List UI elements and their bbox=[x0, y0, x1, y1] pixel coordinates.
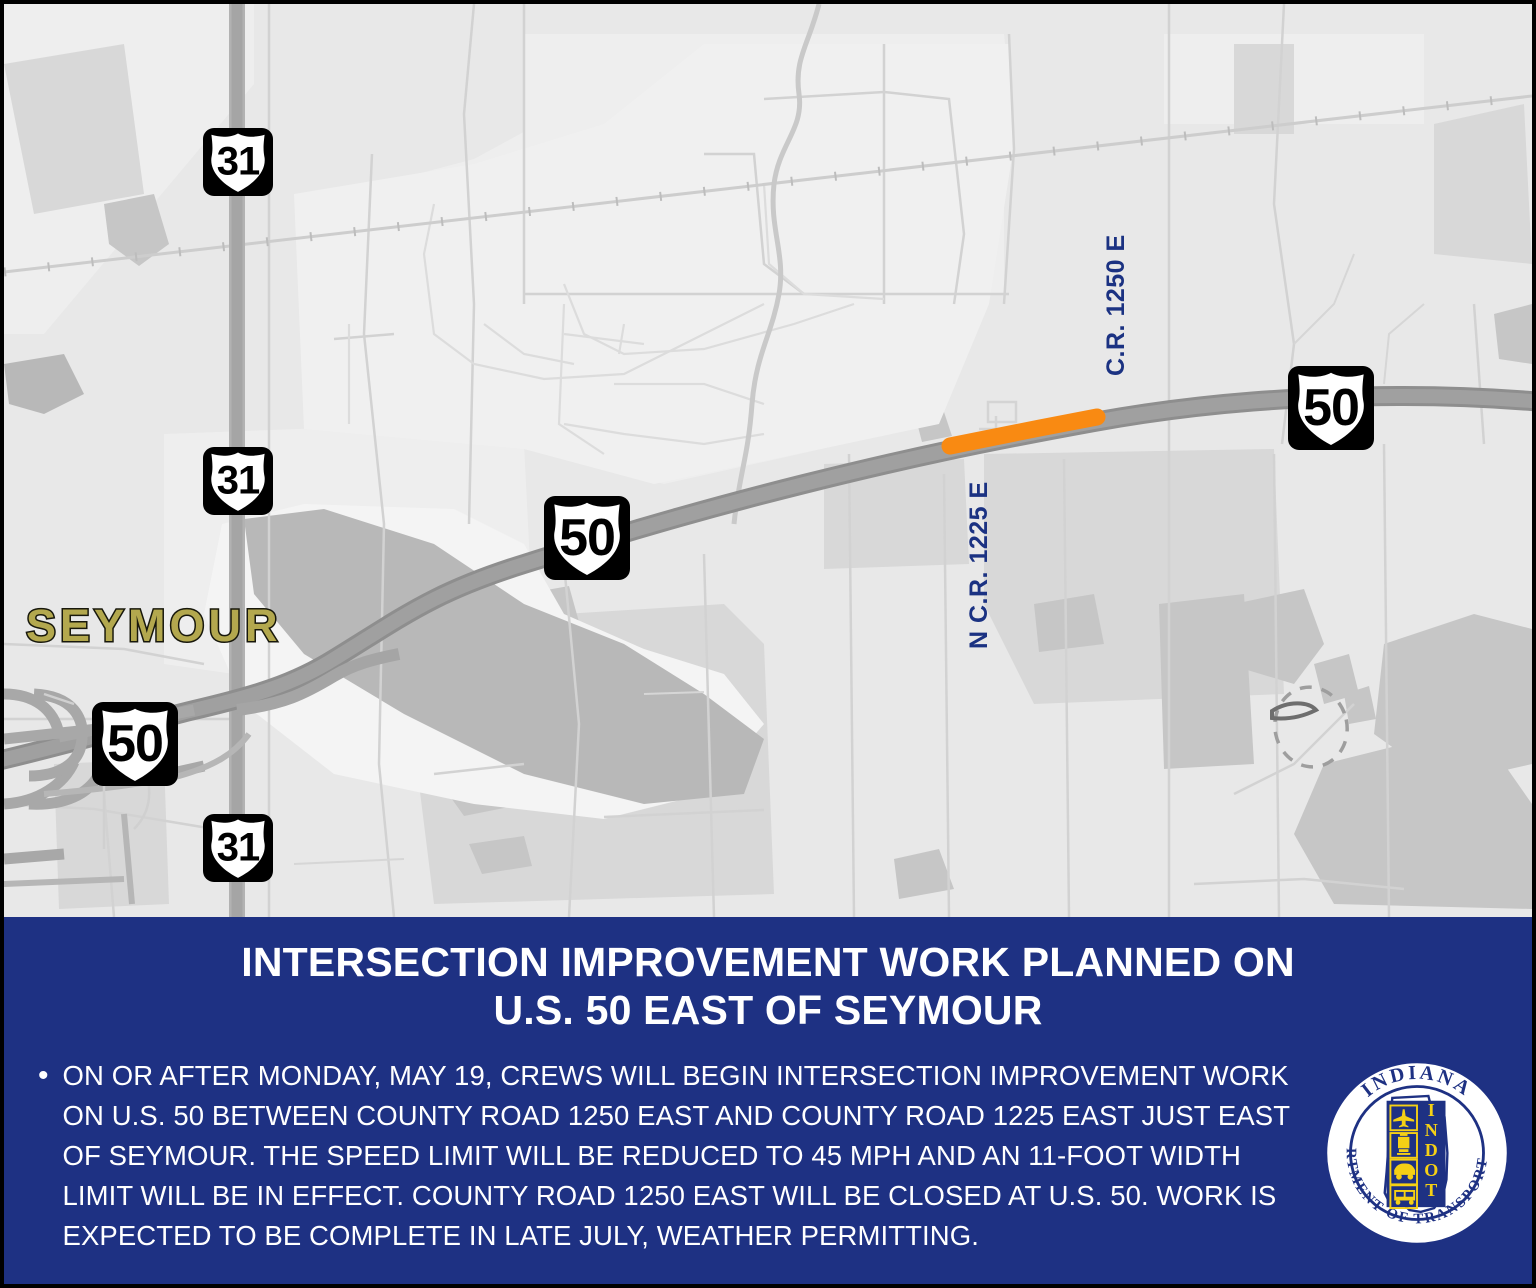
us-31-shield-number-mid: 31 bbox=[203, 459, 273, 504]
us-31-shield-number-north: 31 bbox=[203, 140, 273, 185]
us-50-shield-number-east: 50 bbox=[1288, 378, 1374, 438]
info-banner: INTERSECTION IMPROVEMENT WORK PLANNED ON… bbox=[4, 917, 1532, 1284]
us-31-shield-mid[interactable]: 31 bbox=[203, 447, 273, 515]
banner-bullet-text: ON OR AFTER MONDAY, MAY 19, CREWS WILL B… bbox=[63, 1056, 1314, 1256]
banner-title-line1: INTERSECTION IMPROVEMENT WORK PLANNED ON bbox=[74, 939, 1462, 987]
us-50-shield-west[interactable]: 50 bbox=[92, 702, 178, 786]
banner-bullet-item: • ON OR AFTER MONDAY, MAY 19, CREWS WILL… bbox=[4, 1056, 1322, 1256]
banner-body: • ON OR AFTER MONDAY, MAY 19, CREWS WILL… bbox=[4, 1034, 1532, 1256]
us-50-shield-east[interactable]: 50 bbox=[1288, 366, 1374, 450]
us-50-shield-number-west: 50 bbox=[92, 714, 178, 774]
graphic-root: SEYMOUR C.R. 1250 E N C.R. 1225 E 31 31 bbox=[0, 0, 1536, 1288]
train-icon bbox=[1397, 1134, 1410, 1155]
bullet-point-icon: • bbox=[38, 1056, 63, 1256]
us-31-shield-number-south: 31 bbox=[203, 826, 273, 871]
banner-title-line2: U.S. 50 EAST OF SEYMOUR bbox=[74, 987, 1462, 1035]
us-50-shield-center[interactable]: 50 bbox=[544, 496, 630, 580]
svg-text:N: N bbox=[1425, 1120, 1438, 1140]
n-cr-1225-east-label: N C.R. 1225 E bbox=[965, 481, 994, 649]
indot-seal-icon: INDIANA DEPARTMENT OF TRANSPORTATION bbox=[1322, 1058, 1512, 1248]
svg-text:D: D bbox=[1425, 1140, 1438, 1160]
us-50-shield-number-center: 50 bbox=[544, 508, 630, 568]
map-panel[interactable]: SEYMOUR C.R. 1250 E N C.R. 1225 E 31 31 bbox=[4, 4, 1532, 917]
indot-seal: INDIANA DEPARTMENT OF TRANSPORTATION bbox=[1322, 1056, 1532, 1248]
us-31-shield-south[interactable]: 31 bbox=[203, 814, 273, 882]
cr-1250-east-label: C.R. 1250 E bbox=[1102, 234, 1131, 376]
svg-text:I: I bbox=[1428, 1100, 1435, 1120]
banner-title: INTERSECTION IMPROVEMENT WORK PLANNED ON… bbox=[4, 917, 1532, 1034]
city-label-seymour: SEYMOUR bbox=[26, 600, 282, 652]
svg-text:T: T bbox=[1425, 1180, 1437, 1200]
us-31-shield-north[interactable]: 31 bbox=[203, 128, 273, 196]
svg-text:O: O bbox=[1424, 1160, 1438, 1180]
